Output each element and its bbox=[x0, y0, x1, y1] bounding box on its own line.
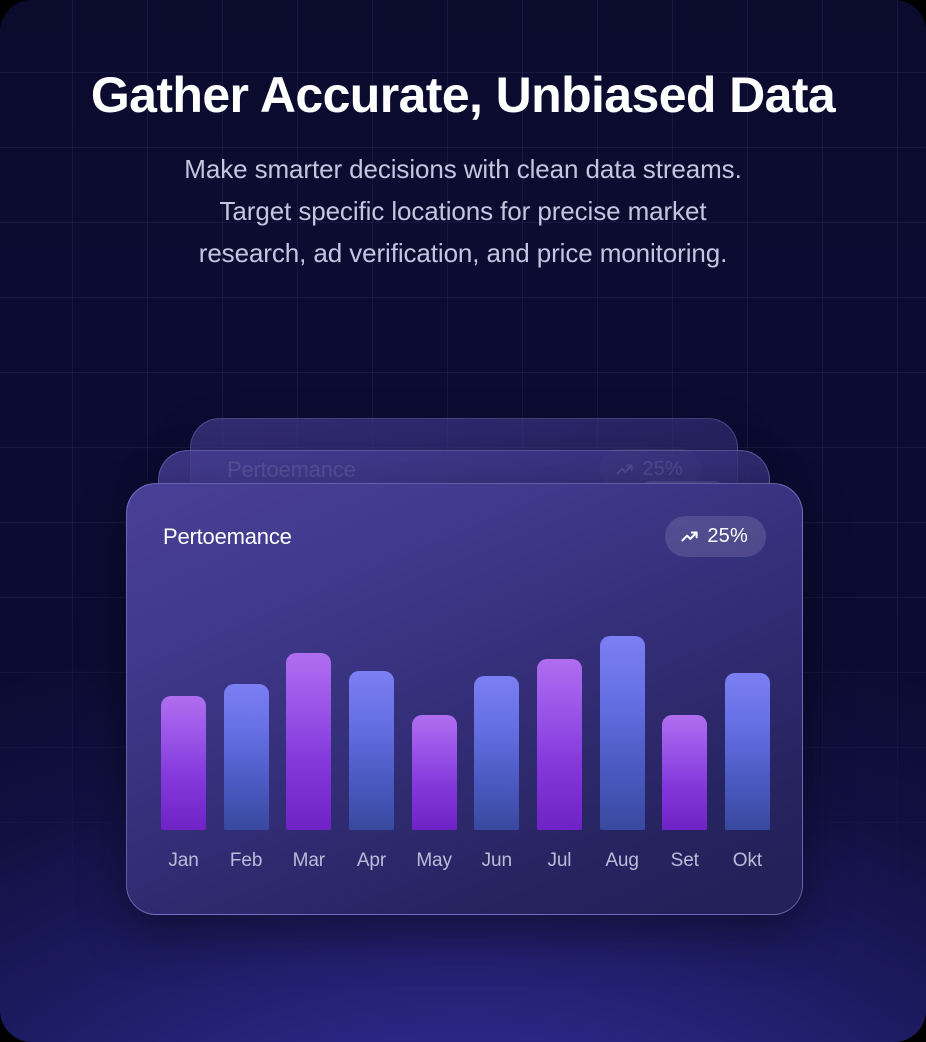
bar-okt bbox=[725, 673, 770, 830]
bar-chart: JanFebMarAprMayJunJulAugSetOkt bbox=[161, 584, 770, 886]
bar-column bbox=[537, 624, 582, 830]
bar-column bbox=[349, 624, 394, 830]
growth-badge-front[interactable]: 25% bbox=[665, 516, 766, 557]
bar-jul bbox=[537, 659, 582, 830]
x-label-aug: Aug bbox=[600, 850, 645, 872]
card-title-front: Pertoemance bbox=[163, 524, 292, 550]
bar-apr bbox=[349, 671, 394, 830]
bar-column bbox=[412, 624, 457, 830]
bar-column bbox=[224, 624, 269, 830]
x-label-set: Set bbox=[662, 850, 707, 872]
x-label-jun: Jun bbox=[474, 850, 519, 872]
bar-column bbox=[662, 624, 707, 830]
x-label-okt: Okt bbox=[725, 850, 770, 872]
x-label-feb: Feb bbox=[224, 850, 269, 872]
bar-feb bbox=[224, 684, 269, 830]
trending-up-icon bbox=[680, 527, 699, 546]
header: Gather Accurate, Unbiased Data Make smar… bbox=[0, 68, 926, 274]
x-label-jan: Jan bbox=[161, 850, 206, 872]
bar-column bbox=[600, 624, 645, 830]
bar-column bbox=[725, 624, 770, 830]
x-label-may: May bbox=[412, 850, 457, 872]
bar-may bbox=[412, 715, 457, 830]
performance-card-front[interactable]: Pertoemance 25% JanFebMarAprMayJunJulAug… bbox=[126, 483, 803, 915]
bar-column bbox=[161, 624, 206, 830]
x-label-apr: Apr bbox=[349, 850, 394, 872]
bar-aug bbox=[600, 636, 645, 830]
bar-column bbox=[474, 624, 519, 830]
x-axis-labels: JanFebMarAprMayJunJulAugSetOkt bbox=[161, 850, 770, 872]
bar-mar bbox=[286, 653, 331, 830]
growth-value-front: 25% bbox=[707, 525, 748, 548]
bar-set bbox=[662, 715, 707, 830]
bar-column bbox=[286, 624, 331, 830]
x-label-mar: Mar bbox=[286, 850, 331, 872]
bar-group bbox=[161, 624, 770, 830]
card-header-front: Pertoemance 25% bbox=[163, 516, 766, 557]
promo-card: Gather Accurate, Unbiased Data Make smar… bbox=[0, 0, 926, 1042]
page-subtitle: Make smarter decisions with clean data s… bbox=[0, 148, 926, 274]
x-label-jul: Jul bbox=[537, 850, 582, 872]
page-title: Gather Accurate, Unbiased Data bbox=[0, 68, 926, 122]
bar-jun bbox=[474, 676, 519, 831]
bar-jan bbox=[161, 696, 206, 830]
